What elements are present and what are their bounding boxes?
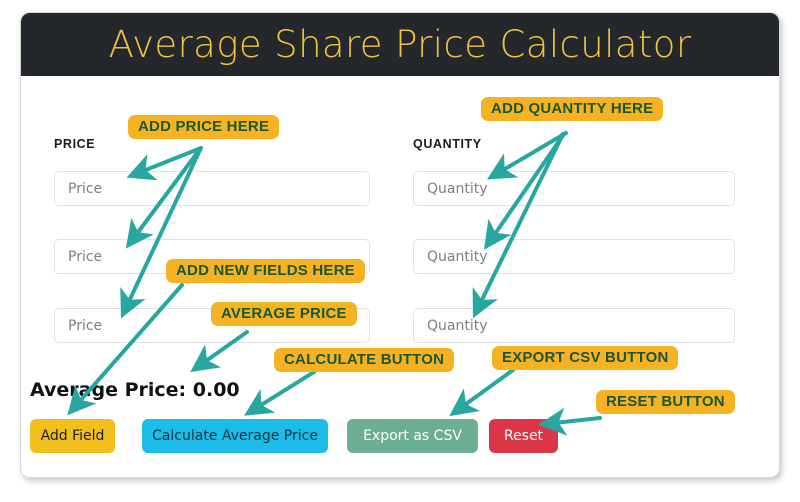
- quantity-input-1[interactable]: Quantity: [413, 171, 735, 206]
- export-as-csv-button[interactable]: Export as CSV: [347, 419, 478, 453]
- add-field-button[interactable]: Add Field: [30, 419, 115, 453]
- annotation-add-quantity: ADD QUANTITY HERE: [481, 97, 663, 121]
- annotation-average-price: AVERAGE PRICE: [211, 302, 357, 326]
- quantity-input-2[interactable]: Quantity: [413, 239, 735, 274]
- annotation-export-csv-button: EXPORT CSV BUTTON: [492, 346, 678, 370]
- annotation-add-price: ADD PRICE HERE: [128, 115, 279, 139]
- average-price-display: Average Price: 0.00: [30, 379, 240, 401]
- annotation-add-new-fields: ADD NEW FIELDS HERE: [166, 259, 365, 283]
- reset-button[interactable]: Reset: [489, 419, 558, 453]
- screenshot-root: Average Share Price Calculator PRICE QUA…: [0, 0, 800, 502]
- price-input-1[interactable]: Price: [54, 171, 370, 206]
- calculate-average-price-button[interactable]: Calculate Average Price: [142, 419, 328, 453]
- page-title: Average Share Price Calculator: [109, 23, 692, 66]
- annotation-calculate-button: CALCULATE BUTTON: [274, 348, 454, 372]
- quantity-column-label: QUANTITY: [413, 137, 482, 151]
- card-header: Average Share Price Calculator: [21, 13, 779, 76]
- annotation-reset-button: RESET BUTTON: [596, 390, 735, 414]
- quantity-input-3[interactable]: Quantity: [413, 308, 735, 343]
- price-column-label: PRICE: [54, 137, 95, 151]
